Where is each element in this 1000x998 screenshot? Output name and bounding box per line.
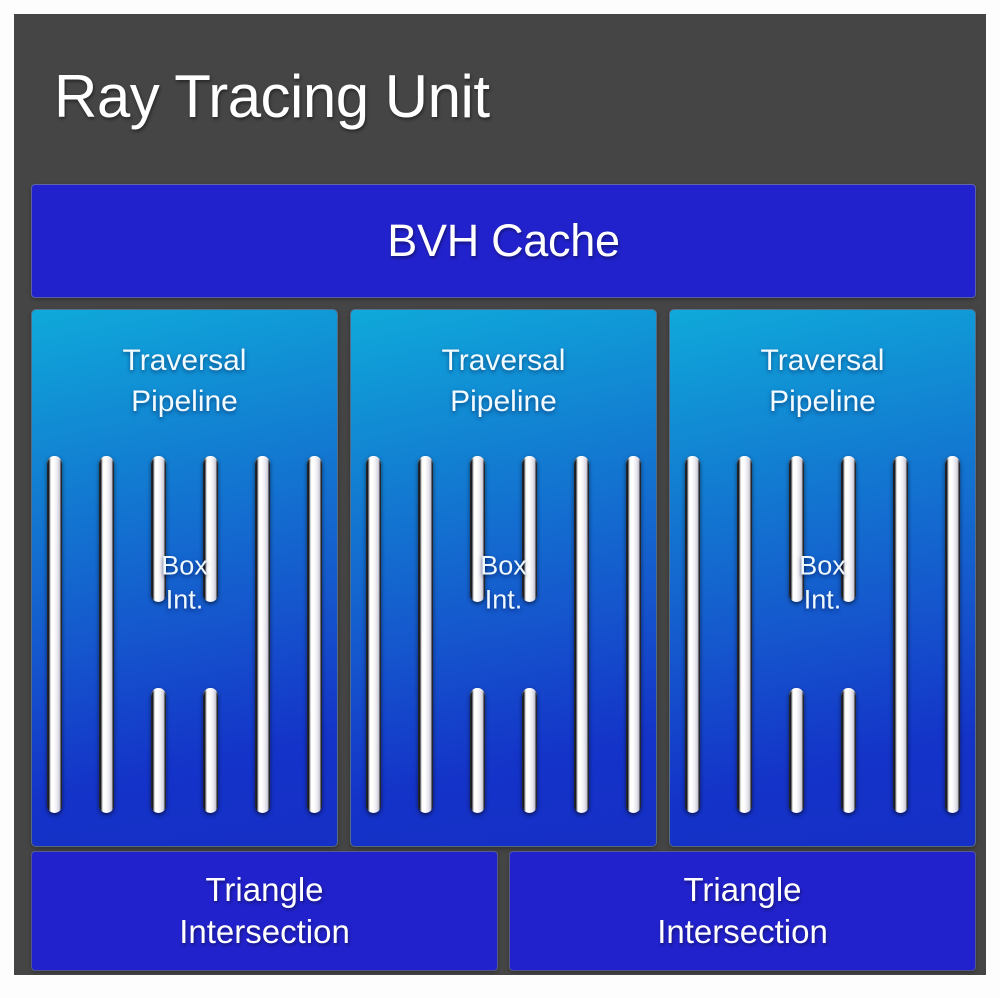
traversal-pipeline-label-line2: Pipeline [32, 381, 337, 422]
diagram-canvas: Ray Tracing Unit BVH Cache Traversal Pip… [14, 14, 986, 975]
traversal-pipeline-label-line1: Traversal [670, 340, 975, 381]
pipeline-bar-upper [522, 456, 537, 602]
pipeline-bar-lower [522, 688, 537, 813]
traversal-pipeline-label-line1: Traversal [32, 340, 337, 381]
traversal-pipeline-label: Traversal Pipeline [670, 340, 975, 423]
triangle-intersection-block[interactable]: Triangle Intersection [32, 852, 497, 970]
pipeline-bar-lower [470, 688, 485, 813]
pipeline-bar-group [685, 456, 960, 813]
pipeline-bar-column [307, 456, 322, 813]
pipeline-bar-column-split [203, 456, 218, 813]
pipeline-bar-column-split [841, 456, 856, 813]
pipeline-bar-column [685, 456, 700, 813]
pipeline-bar-column [99, 456, 114, 813]
pipeline-bar-column-split [522, 456, 537, 813]
bvh-cache-block[interactable]: BVH Cache [32, 185, 975, 297]
pipeline-bar [893, 456, 908, 813]
pipeline-bar [945, 456, 960, 813]
pipeline-bar [255, 456, 270, 813]
traversal-pipeline-block[interactable]: Traversal Pipeline Box Int. [32, 310, 337, 846]
pipeline-bar-column-split [470, 456, 485, 813]
pipeline-bar-group [47, 456, 322, 813]
pipeline-bar [626, 456, 641, 813]
pipeline-bar-upper [841, 456, 856, 602]
bvh-cache-label: BVH Cache [387, 215, 619, 267]
triangle-intersection-label-line1: Triangle [179, 869, 350, 911]
pipeline-bar-upper [203, 456, 218, 602]
pipeline-bar [574, 456, 589, 813]
pipeline-bar [685, 456, 700, 813]
pipeline-bar-column-split [789, 456, 804, 813]
pipeline-bar-group [366, 456, 641, 813]
triangle-intersection-block[interactable]: Triangle Intersection [510, 852, 975, 970]
pipeline-bar [99, 456, 114, 813]
traversal-pipeline-label-line2: Pipeline [670, 381, 975, 422]
pipeline-bar-lower [841, 688, 856, 813]
traversal-pipeline-row: Traversal Pipeline Box Int. Traversal Pi… [32, 310, 975, 846]
traversal-pipeline-label: Traversal Pipeline [351, 340, 656, 423]
pipeline-bar-upper [151, 456, 166, 602]
pipeline-bar-column [47, 456, 62, 813]
traversal-pipeline-block[interactable]: Traversal Pipeline Box Int. [670, 310, 975, 846]
traversal-pipeline-block[interactable]: Traversal Pipeline Box Int. [351, 310, 656, 846]
page-title: Ray Tracing Unit [54, 62, 490, 131]
pipeline-bar [418, 456, 433, 813]
triangle-intersection-label-line1: Triangle [657, 869, 828, 911]
pipeline-bar [307, 456, 322, 813]
pipeline-bar-column [737, 456, 752, 813]
pipeline-bar-lower [789, 688, 804, 813]
pipeline-bar-upper [470, 456, 485, 602]
pipeline-bar-lower [151, 688, 166, 813]
pipeline-bar-column [366, 456, 381, 813]
pipeline-bar-column [626, 456, 641, 813]
traversal-pipeline-label-line1: Traversal [351, 340, 656, 381]
pipeline-bar-column [255, 456, 270, 813]
traversal-pipeline-label: Traversal Pipeline [32, 340, 337, 423]
pipeline-bar-column [418, 456, 433, 813]
traversal-pipeline-label-line2: Pipeline [351, 381, 656, 422]
triangle-intersection-label: Triangle Intersection [657, 869, 828, 953]
triangle-intersection-label: Triangle Intersection [179, 869, 350, 953]
pipeline-bar-lower [203, 688, 218, 813]
triangle-intersection-label-line2: Intersection [179, 911, 350, 953]
pipeline-bar [366, 456, 381, 813]
triangle-intersection-label-line2: Intersection [657, 911, 828, 953]
triangle-intersection-row: Triangle Intersection Triangle Intersect… [32, 852, 975, 970]
pipeline-bar-upper [789, 456, 804, 602]
pipeline-bar-column [945, 456, 960, 813]
pipeline-bar-column [893, 456, 908, 813]
pipeline-bar-column [574, 456, 589, 813]
pipeline-bar [47, 456, 62, 813]
pipeline-bar [737, 456, 752, 813]
pipeline-bar-column-split [151, 456, 166, 813]
